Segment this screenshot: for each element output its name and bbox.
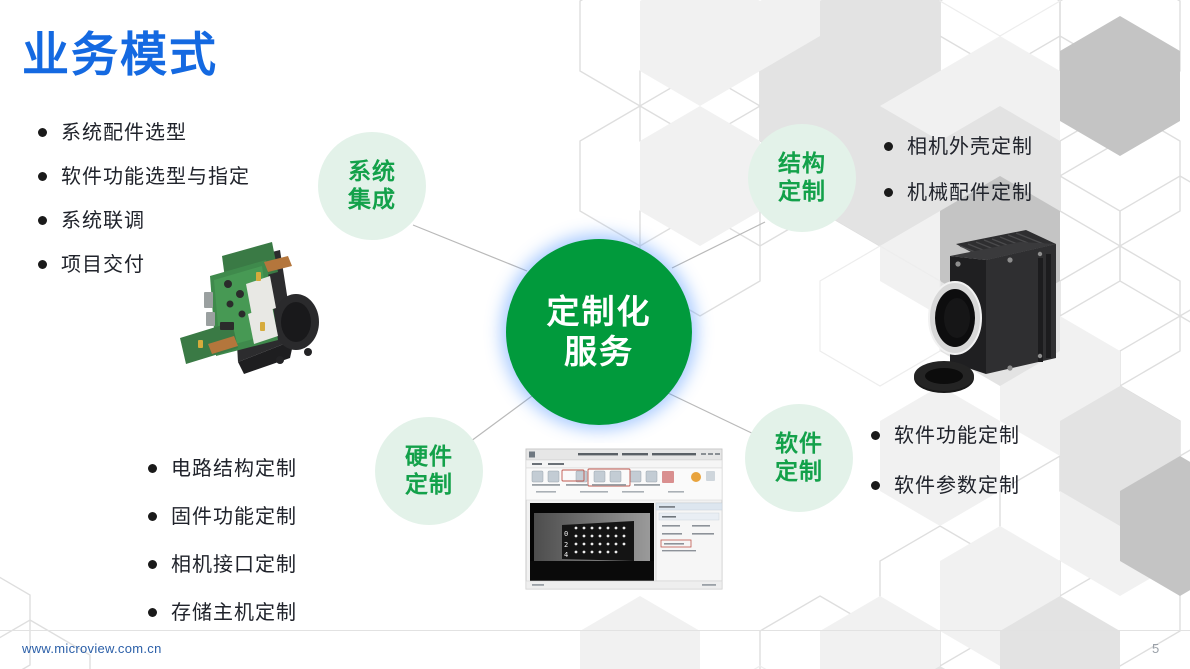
svg-text:0: 0: [564, 530, 568, 538]
node-hardware-line1: 硬件: [405, 443, 453, 471]
list-item: 电路结构定制: [148, 458, 297, 478]
bullet-label: 软件功能定制: [894, 425, 1020, 445]
connector-center-to-software: [668, 393, 760, 437]
bullet-dot-icon: [871, 481, 880, 490]
bullet-label: 软件功能选型与指定: [61, 166, 250, 186]
node-hardware-line2: 定制: [405, 471, 453, 499]
list-item: 软件功能定制: [871, 425, 1020, 445]
bullet-dot-icon: [38, 128, 47, 137]
list-item: 软件参数定制: [871, 475, 1020, 495]
bullet-label: 固件功能定制: [171, 506, 297, 526]
diagram-node-hardware-customization[interactable]: 硬件 定制: [375, 417, 483, 525]
page-number: 5: [1152, 641, 1159, 656]
node-structure-line1: 结构: [778, 150, 826, 178]
bullet-dot-icon: [884, 188, 893, 197]
node-software-line1: 软件: [775, 430, 823, 458]
bullet-group-bottom-left: 电路结构定制 固件功能定制 相机接口定制 存储主机定制: [148, 458, 297, 650]
diagram-node-center[interactable]: 定制化 服务: [506, 239, 692, 425]
diagram-node-structure-customization[interactable]: 结构 定制: [748, 124, 856, 232]
bullet-dot-icon: [38, 172, 47, 181]
list-item: 相机接口定制: [148, 554, 297, 574]
bullet-dot-icon: [884, 142, 893, 151]
list-item: 项目交付: [38, 254, 250, 274]
bullet-label: 项目交付: [61, 254, 145, 274]
bullet-label: 软件参数定制: [894, 475, 1020, 495]
bullet-dot-icon: [148, 512, 157, 521]
bullet-group-top-left: 系统配件选型 软件功能选型与指定 系统联调 项目交付: [38, 122, 250, 298]
bullet-label: 系统联调: [61, 210, 145, 230]
connector-center-to-system-integration: [413, 225, 527, 271]
list-item: 存储主机定制: [148, 602, 297, 622]
list-item: 系统联调: [38, 210, 250, 230]
bullet-label: 存储主机定制: [171, 602, 297, 622]
footer-website-url[interactable]: www.microview.com.cn: [22, 641, 162, 656]
connector-center-to-structure: [672, 222, 765, 268]
bullet-label: 电路结构定制: [171, 458, 297, 478]
footer-divider: [0, 630, 1190, 631]
bullet-label: 相机外壳定制: [907, 136, 1033, 156]
vision-software-screenshot: 0 2 4: [518, 443, 730, 595]
list-item: 相机外壳定制: [884, 136, 1033, 156]
bullet-dot-icon: [38, 260, 47, 269]
bullet-label: 系统配件选型: [61, 122, 187, 142]
slide-canvas: 业务模式 定制化 服务 系统 集成 结构 定制 硬件 定制 软件 定制: [0, 0, 1190, 669]
list-item: 软件功能选型与指定: [38, 166, 250, 186]
node-software-line2: 定制: [775, 458, 823, 486]
bullet-group-top-right: 相机外壳定制 机械配件定制: [884, 136, 1033, 228]
svg-text:2: 2: [564, 541, 568, 549]
bullet-dot-icon: [871, 431, 880, 440]
connector-center-to-hardware: [467, 396, 532, 444]
node-system-integration-line2: 集成: [348, 186, 396, 214]
diagram-node-system-integration[interactable]: 系统 集成: [318, 132, 426, 240]
bullet-label: 机械配件定制: [907, 182, 1033, 202]
node-center-line2: 服务: [564, 332, 634, 372]
node-system-integration-line1: 系统: [348, 158, 396, 186]
bullet-dot-icon: [148, 608, 157, 617]
list-item: 固件功能定制: [148, 506, 297, 526]
diagram-node-software-customization[interactable]: 软件 定制: [745, 404, 853, 512]
bullet-dot-icon: [148, 464, 157, 473]
list-item: 机械配件定制: [884, 182, 1033, 202]
bullet-dot-icon: [148, 560, 157, 569]
list-item: 系统配件选型: [38, 122, 250, 142]
bullet-group-bottom-right: 软件功能定制 软件参数定制: [871, 425, 1020, 525]
node-structure-line2: 定制: [778, 178, 826, 206]
node-center-line1: 定制化: [547, 292, 652, 332]
bullet-label: 相机接口定制: [171, 554, 297, 574]
svg-text:4: 4: [564, 551, 568, 559]
bullet-dot-icon: [38, 216, 47, 225]
industrial-camera-photo: [898, 222, 1080, 406]
